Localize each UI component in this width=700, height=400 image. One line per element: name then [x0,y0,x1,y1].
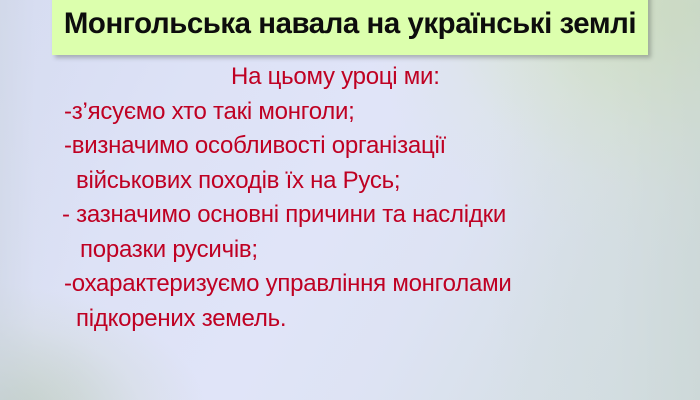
objective-line: -охарактеризуємо управління монголами [0,267,700,302]
slide-title: Монгольська навала на українські землі [58,6,642,42]
objective-line: - зазначимо основні причини та наслідки [0,198,700,233]
objective-line: -визначимо особливості організації [0,129,700,164]
presentation-slide: уроку Монгольська навала на українські з… [0,0,700,400]
title-banner: уроку Монгольська навала на українські з… [52,0,648,55]
objective-line: -з’ясуємо хто такі монголи; [0,95,700,130]
objective-line: підкорених земель. [0,302,700,337]
objective-line: поразки русичів; [0,233,700,268]
lesson-objectives-list: На цьому уроці ми:-з’ясуємо хто такі мон… [0,60,700,336]
objectives-heading: На цьому уроці ми: [0,60,700,95]
objective-line: військових походів їх на Русь; [0,164,700,199]
